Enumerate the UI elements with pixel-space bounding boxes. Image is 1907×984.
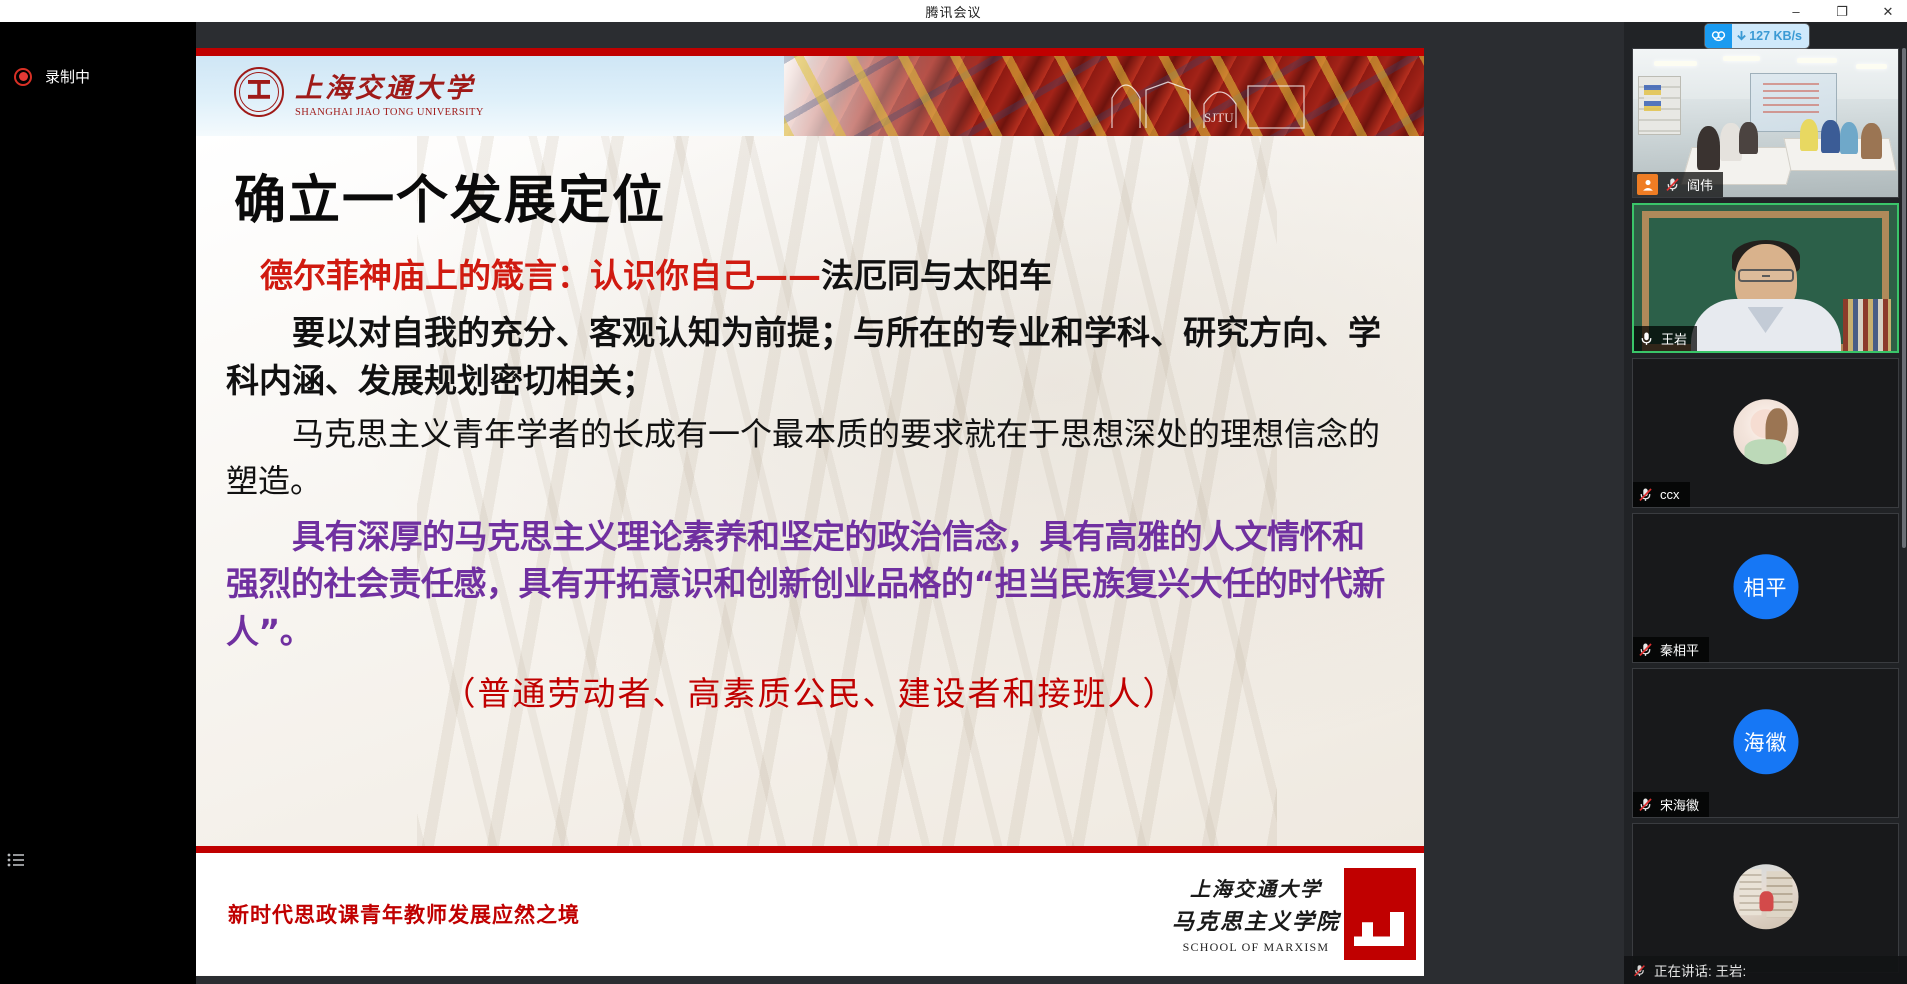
participant-tiles: 阎伟	[1624, 48, 1907, 978]
active-speaker-bar: 正在讲话: 王岩:	[1624, 956, 1907, 984]
avatar	[1733, 399, 1798, 464]
participant-tile-yanwei[interactable]: 阎伟	[1632, 48, 1899, 198]
slide-footer: 新时代思政课青年教师发展应然之境 上海交通大学 马克思主义学院 SCHOOL O…	[196, 853, 1424, 975]
slide-footer-text: 新时代思政课青年教师发展应然之境	[228, 899, 580, 929]
shared-screen-area[interactable]: SJTU 上海交通大学 SHANGHAI JIAO TONG UNIVERSIT…	[196, 48, 1424, 984]
slide-bottom-rule	[196, 846, 1424, 853]
marx-logo-line2: 马克思主义学院	[1172, 904, 1340, 936]
university-name-en: SHANGHAI JIAO TONG UNIVERSITY	[295, 107, 484, 118]
marxism-school-logo: 上海交通大学 马克思主义学院 SCHOOL OF MARXISM	[1172, 853, 1416, 975]
sjtu-outline-graphic: SJTU	[1108, 70, 1378, 132]
marx-logo-mark-icon	[1344, 868, 1416, 960]
meeting-window: 录制中 SJTU	[0, 22, 1907, 984]
highlight-black-text: 法厄同与太阳车	[821, 256, 1052, 295]
download-arrow-icon	[1736, 30, 1747, 43]
mic-muted-icon	[1637, 796, 1654, 813]
slide-title: 确立一个发展定位	[234, 158, 1394, 233]
participant-tile-wangyan[interactable]: 王岩	[1632, 203, 1899, 353]
slide-paragraph-2: 马克思主义青年学者的长成有一个最本质的要求就在于思想深处的理想信念的塑造。	[226, 411, 1394, 504]
slide-paragraph-4: （普通劳动者、高素质公民、建设者和接班人）	[226, 667, 1394, 715]
participant-rail: 127 KB/s	[1624, 22, 1907, 984]
participant-tile-partial[interactable]	[1632, 823, 1899, 973]
participant-name: 阎伟	[1687, 175, 1713, 194]
participant-label: 王岩	[1634, 326, 1697, 351]
sjtu-seal-icon	[234, 67, 284, 117]
participant-label: ccx	[1633, 482, 1690, 507]
close-button[interactable]: ✕	[1875, 0, 1901, 22]
recording-indicator[interactable]: 录制中	[14, 66, 90, 87]
slide-paragraph-3: 具有深厚的马克思主义理论素养和坚定的政治信念，具有高雅的人文情怀和强烈的社会责任…	[226, 513, 1394, 656]
participant-label: 阎伟	[1633, 172, 1723, 197]
marx-logo-line1: 上海交通大学	[1190, 873, 1322, 902]
avatar: 相平	[1733, 554, 1798, 619]
cloud-icon	[1705, 24, 1732, 48]
participant-tile-songhaihui[interactable]: 海徽 宋海徽	[1632, 668, 1899, 818]
mic-muted-icon	[1637, 641, 1654, 658]
left-rail: 录制中	[0, 22, 196, 984]
participant-scrollbar[interactable]	[1902, 48, 1906, 548]
avatar-badge-icon	[1637, 174, 1658, 195]
participant-name: 王岩	[1661, 329, 1687, 348]
mic-muted-icon	[1632, 963, 1647, 978]
participant-name: ccx	[1660, 487, 1680, 502]
participant-label: 宋海徽	[1633, 792, 1709, 817]
mic-unmuted-icon	[1638, 330, 1655, 347]
slide-content: 确立一个发展定位 德尔菲神庙上的箴言：认识你自己——法厄同与太阳车 要以对自我的…	[196, 136, 1424, 846]
participant-name: 宋海徽	[1660, 795, 1699, 814]
window-titlebar: 腾讯会议 – ❐ ✕	[0, 0, 1907, 22]
slide-header-banner: SJTU 上海交通大学 SHANGHAI JIAO TONG UNIVERSIT…	[196, 56, 1424, 136]
active-speaker-text: 正在讲话: 王岩:	[1654, 960, 1746, 980]
participant-label: 秦相平	[1633, 637, 1709, 662]
presentation-slide: SJTU 上海交通大学 SHANGHAI JIAO TONG UNIVERSIT…	[196, 48, 1424, 976]
window-title: 腾讯会议	[925, 2, 981, 21]
university-name-cn: 上海交通大学	[295, 66, 484, 105]
avatar: 海徽	[1733, 709, 1798, 774]
network-speed-value: 127 KB/s	[1732, 29, 1809, 43]
svg-text:SJTU: SJTU	[1204, 110, 1234, 125]
slide-highlight-line: 德尔菲神庙上的箴言：认识你自己——法厄同与太阳车	[260, 249, 1394, 297]
maximize-button[interactable]: ❐	[1829, 0, 1855, 22]
mic-muted-icon	[1664, 176, 1681, 193]
participant-tile-ccx[interactable]: ccx	[1632, 358, 1899, 508]
avatar-initials: 海徽	[1744, 727, 1788, 757]
participant-tile-qinxiangping[interactable]: 相平 秦相平	[1632, 513, 1899, 663]
record-dot-icon	[14, 68, 32, 86]
list-view-icon[interactable]	[6, 850, 26, 870]
sjtu-logo: 上海交通大学 SHANGHAI JIAO TONG UNIVERSITY	[234, 66, 484, 118]
participant-name: 秦相平	[1660, 640, 1699, 659]
highlight-red-text: 德尔菲神庙上的箴言：认识你自己——	[260, 256, 821, 295]
minimize-button[interactable]: –	[1783, 0, 1809, 22]
avatar	[1733, 864, 1798, 929]
network-speed-badge[interactable]: 127 KB/s	[1705, 24, 1809, 48]
marx-logo-en: SCHOOL OF MARXISM	[1183, 940, 1330, 955]
mic-muted-icon	[1637, 486, 1654, 503]
slide-paragraph-1: 要以对自我的充分、客观认知为前提；与所在的专业和学科、研究方向、学科内涵、发展规…	[226, 309, 1394, 405]
avatar-initials: 相平	[1744, 572, 1788, 602]
slide-top-rule	[196, 48, 1424, 56]
network-speed-text: 127 KB/s	[1749, 29, 1802, 43]
recording-label: 录制中	[45, 66, 90, 87]
window-controls: – ❐ ✕	[1783, 0, 1901, 22]
